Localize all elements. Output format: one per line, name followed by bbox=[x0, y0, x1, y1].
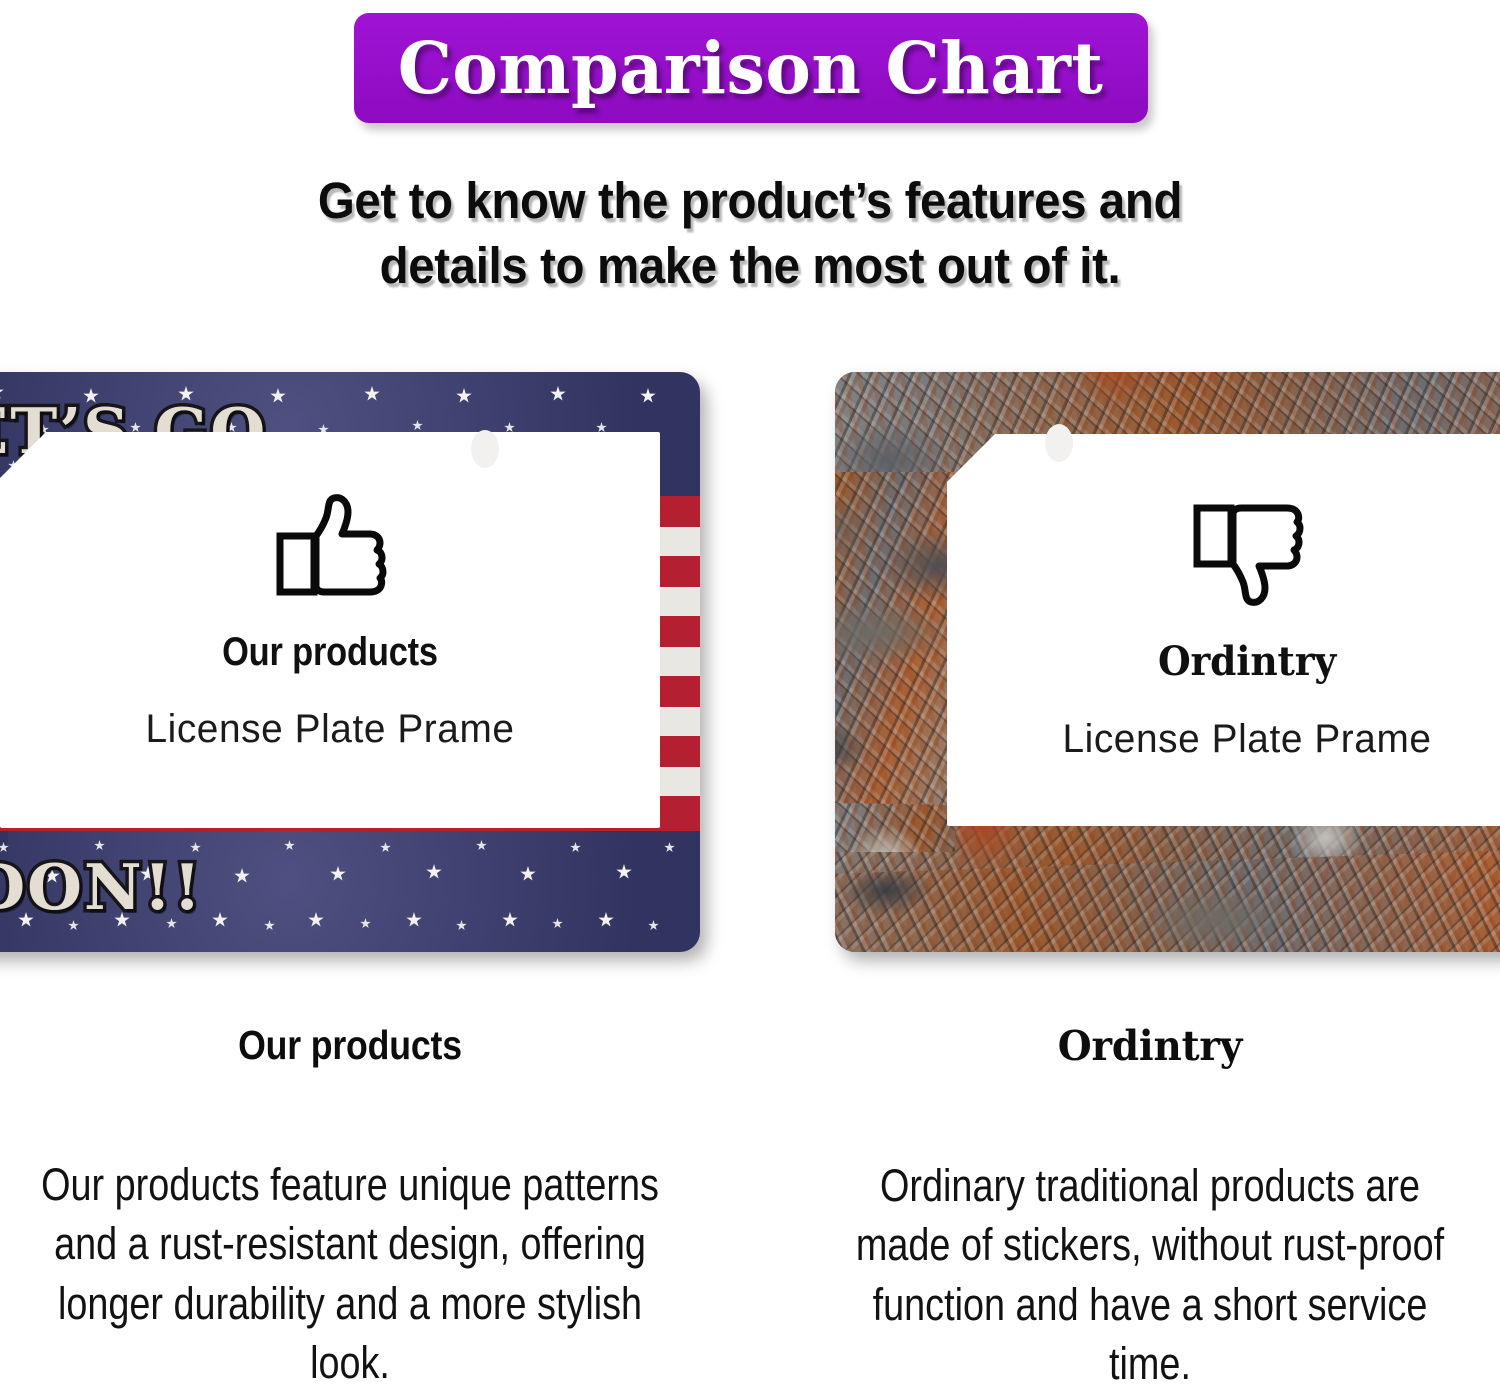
thumbs-up-icon bbox=[272, 492, 388, 600]
comparison-chart-banner: Comparison Chart bbox=[354, 13, 1148, 123]
left-description-column: Our products Our products feature unique… bbox=[0, 1022, 725, 1393]
mounting-hole-right bbox=[1045, 424, 1073, 462]
right-inner-title: Ordintry bbox=[965, 638, 1500, 685]
right-frame-content: Ordintry License Plate Prame bbox=[947, 500, 1500, 762]
mounting-hole-left bbox=[471, 430, 499, 468]
page-title: Comparison Chart bbox=[398, 33, 1104, 104]
right-column-body: Ordinary traditional products are made o… bbox=[835, 1156, 1465, 1394]
left-inner-subtitle: License Plate Prame bbox=[10, 707, 650, 752]
flag-stripes-column bbox=[660, 496, 700, 831]
right-inner-subtitle: License Plate Prame bbox=[956, 717, 1500, 762]
right-description-column: Ordintry Ordinary traditional products a… bbox=[775, 1022, 1500, 1394]
plate-text-bottom: ANDON!! bbox=[0, 850, 203, 924]
rust-left-band bbox=[835, 472, 955, 852]
ordinary-product-frame-card: Ordintry License Plate Prame bbox=[835, 372, 1500, 952]
subtitle-line-2: details to make the most out of it. bbox=[53, 233, 1448, 298]
left-inner-title: Our products bbox=[46, 630, 614, 675]
right-column-heading: Ordintry bbox=[794, 1022, 1500, 1070]
thumbs-down-icon bbox=[1189, 500, 1305, 608]
left-frame-content: Our products License Plate Prame bbox=[0, 492, 660, 752]
our-product-frame-card: LET’S GO ANDON!! Our products License Pl… bbox=[0, 372, 700, 952]
subtitle-line-1: Get to know the product’s features and bbox=[53, 168, 1448, 233]
page-subtitle: Get to know the product’s features and d… bbox=[53, 168, 1448, 299]
left-column-heading: Our products bbox=[24, 1022, 677, 1069]
left-column-body: Our products feature unique patterns and… bbox=[35, 1155, 665, 1393]
